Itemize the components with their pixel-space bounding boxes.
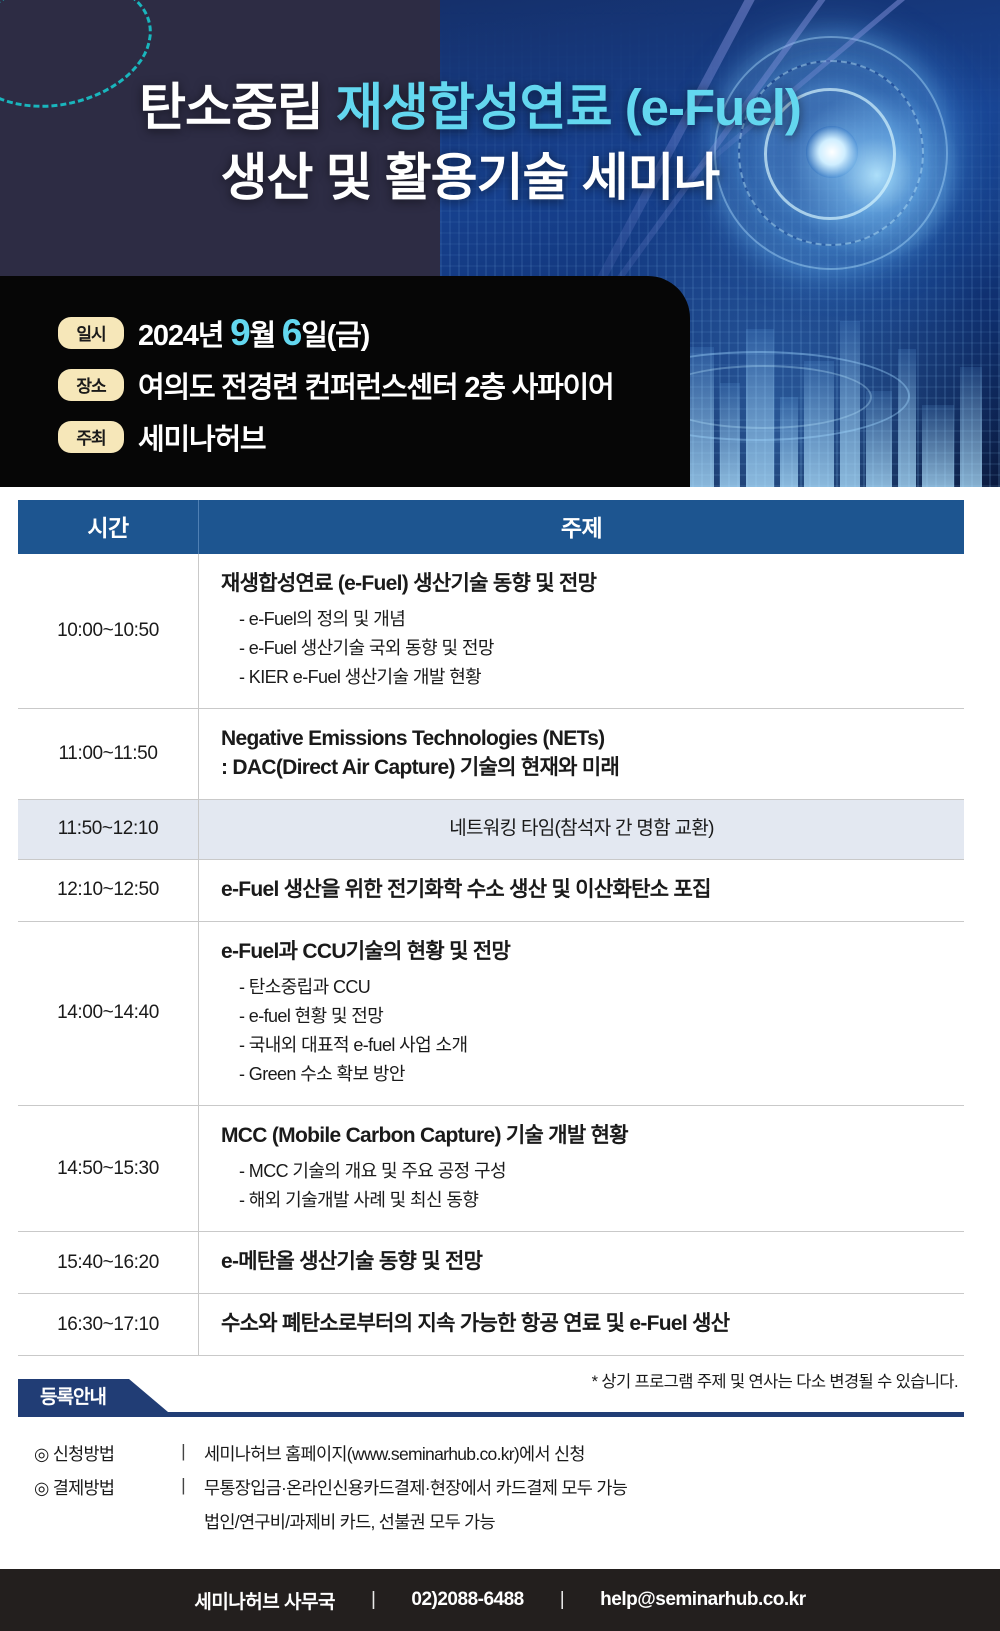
title-line1-part2: 재생합성연료 (e-Fuel) bbox=[336, 79, 801, 136]
session-title: 수소와 폐탄소로부터의 지속 가능한 항공 연료 및 e-Fuel 생산 bbox=[221, 1310, 964, 1339]
column-header-time: 시간 bbox=[18, 500, 199, 554]
session-time: 10:00~10:50 bbox=[18, 554, 199, 709]
session-bullet-item: - Green 수소 확보 방안 bbox=[239, 1060, 964, 1089]
venue-value: 여의도 전경련 컨퍼런스센터 2층 사파이어 bbox=[138, 364, 614, 406]
registration-key: ◎ 신청방법 bbox=[34, 1441, 162, 1466]
registration-divider bbox=[18, 1412, 964, 1417]
date-badge: 일시 bbox=[58, 317, 124, 349]
session-topic-cell: e-Fuel과 CCU기술의 현황 및 전망- 탄소중립과 CCU- e-fue… bbox=[199, 921, 965, 1106]
registration-line: ◎ 결제방법|무통장입금·온라인신용카드결제·현장에서 카드결제 모두 가능 bbox=[34, 1475, 964, 1500]
program-table: 시간 주제 10:00~10:50재생합성연료 (e-Fuel) 생산기술 동향… bbox=[18, 500, 964, 1356]
column-header-topic: 주제 bbox=[199, 500, 965, 554]
session-bullet-item: - 국내외 대표적 e-fuel 사업 소개 bbox=[239, 1031, 964, 1060]
session-bullets: - MCC 기술의 개요 및 주요 공정 구성- 해외 기술개발 사례 및 최신… bbox=[221, 1157, 964, 1215]
date-month-unit: 월 bbox=[249, 320, 274, 352]
table-row: 10:00~10:50재생합성연료 (e-Fuel) 생산기술 동향 및 전망-… bbox=[18, 554, 964, 709]
footer-phone[interactable]: 02)2088-6488 bbox=[411, 1589, 523, 1611]
table-row: 11:00~11:50Negative Emissions Technologi… bbox=[18, 709, 964, 800]
session-title: Negative Emissions Technologies (NETs): … bbox=[221, 725, 964, 783]
page-footer: 세미나허브 사무국 | 02)2088-6488 | help@seminarh… bbox=[0, 1569, 1000, 1631]
registration-separator: | bbox=[162, 1441, 204, 1462]
registration-tab-label: 등록안내 bbox=[18, 1379, 168, 1412]
date-year: 2024년 bbox=[138, 320, 223, 352]
info-row-host: 주최 세미나허브 bbox=[58, 416, 614, 458]
session-time: 12:10~12:50 bbox=[18, 859, 199, 921]
registration-value: 세미나허브 홈페이지(www.seminarhub.co.kr)에서 신청 bbox=[204, 1441, 964, 1466]
program-header-row: 시간 주제 bbox=[18, 500, 964, 554]
footer-office: 세미나허브 사무국 bbox=[194, 1587, 335, 1614]
table-row: 14:00~14:40e-Fuel과 CCU기술의 현황 및 전망- 탄소중립과… bbox=[18, 921, 964, 1106]
title-line2: 생산 및 활용기술 세미나 bbox=[0, 148, 940, 208]
session-topic-cell: 수소와 폐탄소로부터의 지속 가능한 항공 연료 및 e-Fuel 생산 bbox=[199, 1294, 965, 1356]
session-time: 11:00~11:50 bbox=[18, 709, 199, 800]
session-topic-cell: e-Fuel 생산을 위한 전기화학 수소 생산 및 이산화탄소 포집 bbox=[199, 859, 965, 921]
host-badge: 주최 bbox=[58, 421, 124, 453]
session-bullet-item: - KIER e-Fuel 생산기술 개발 현황 bbox=[239, 663, 964, 692]
session-bullet-item: - e-fuel 현황 및 전망 bbox=[239, 1002, 964, 1031]
session-bullet-item: - e-Fuel 생산기술 국외 동향 및 전망 bbox=[239, 634, 964, 663]
venue-badge: 장소 bbox=[58, 369, 124, 401]
registration-continuation: 법인/연구비/과제비 카드, 선불권 모두 가능 bbox=[204, 1509, 964, 1534]
date-month-number: 9 bbox=[230, 312, 249, 353]
registration-value: 무통장입금·온라인신용카드결제·현장에서 카드결제 모두 가능 bbox=[204, 1475, 964, 1500]
host-value: 세미나허브 bbox=[138, 416, 265, 458]
registration-separator: | bbox=[162, 1475, 204, 1496]
registration-tab-wrap: 등록안내 bbox=[18, 1379, 964, 1417]
date-value: 2024년 9월 6일(금) bbox=[138, 312, 369, 354]
session-title: e-메탄올 생산기술 동향 및 전망 bbox=[221, 1248, 964, 1277]
session-bullet-item: - e-Fuel의 정의 및 개념 bbox=[239, 605, 964, 634]
registration-section: 등록안내 ◎ 신청방법|세미나허브 홈페이지(www.seminarhub.co… bbox=[18, 1379, 964, 1534]
session-topic-cell: Negative Emissions Technologies (NETs): … bbox=[199, 709, 965, 800]
session-topic-cell: 네트워킹 타임(참석자 간 명함 교환) bbox=[199, 800, 965, 859]
poster-title: 탄소중립 재생합성연료 (e-Fuel) 생산 및 활용기술 세미나 bbox=[0, 78, 940, 208]
footer-separator-1: | bbox=[371, 1589, 375, 1611]
session-bullet-item: - 탄소중립과 CCU bbox=[239, 973, 964, 1002]
session-topic-cell: MCC (Mobile Carbon Capture) 기술 개발 현황- MC… bbox=[199, 1106, 965, 1232]
registration-line: ◎ 신청방법|세미나허브 홈페이지(www.seminarhub.co.kr)에… bbox=[34, 1441, 964, 1466]
table-row: 16:30~17:10수소와 폐탄소로부터의 지속 가능한 항공 연료 및 e-… bbox=[18, 1294, 964, 1356]
session-bullets: - e-Fuel의 정의 및 개념- e-Fuel 생산기술 국외 동향 및 전… bbox=[221, 605, 964, 692]
info-row-date: 일시 2024년 9월 6일(금) bbox=[58, 312, 614, 354]
table-row: 12:10~12:50e-Fuel 생산을 위한 전기화학 수소 생산 및 이산… bbox=[18, 859, 964, 921]
program-table-body: 10:00~10:50재생합성연료 (e-Fuel) 생산기술 동향 및 전망-… bbox=[18, 554, 964, 1356]
session-time: 16:30~17:10 bbox=[18, 1294, 199, 1356]
hero-banner: 탄소중립 재생합성연료 (e-Fuel) 생산 및 활용기술 세미나 일시 20… bbox=[0, 0, 1000, 487]
table-row: 11:50~12:10네트워킹 타임(참석자 간 명함 교환) bbox=[18, 800, 964, 859]
session-topic-cell: e-메탄올 생산기술 동향 및 전망 bbox=[199, 1232, 965, 1294]
table-row: 15:40~16:20e-메탄올 생산기술 동향 및 전망 bbox=[18, 1232, 964, 1294]
footer-email[interactable]: help@seminarhub.co.kr bbox=[600, 1589, 805, 1611]
registration-details: ◎ 신청방법|세미나허브 홈페이지(www.seminarhub.co.kr)에… bbox=[18, 1441, 964, 1534]
date-day-number: 6 bbox=[282, 312, 301, 353]
footer-separator-2: | bbox=[560, 1589, 564, 1611]
title-line1-part1: 탄소중립 bbox=[139, 79, 323, 136]
registration-key: ◎ 결제방법 bbox=[34, 1475, 162, 1500]
event-info-panel: 일시 2024년 9월 6일(금) 장소 여의도 전경련 컨퍼런스센터 2층 사… bbox=[0, 276, 690, 487]
program-table-head: 시간 주제 bbox=[18, 500, 964, 554]
session-time: 11:50~12:10 bbox=[18, 800, 199, 859]
session-title: e-Fuel과 CCU기술의 현황 및 전망 bbox=[221, 938, 964, 967]
session-time: 14:00~14:40 bbox=[18, 921, 199, 1106]
info-row-venue: 장소 여의도 전경련 컨퍼런스센터 2층 사파이어 bbox=[58, 364, 614, 406]
program-section: 시간 주제 10:00~10:50재생합성연료 (e-Fuel) 생산기술 동향… bbox=[18, 500, 964, 1392]
session-time: 14:50~15:30 bbox=[18, 1106, 199, 1232]
session-bullet-item: - MCC 기술의 개요 및 주요 공정 구성 bbox=[239, 1157, 964, 1186]
session-title: 재생합성연료 (e-Fuel) 생산기술 동향 및 전망 bbox=[221, 570, 964, 599]
session-bullets: - 탄소중립과 CCU- e-fuel 현황 및 전망- 국내외 대표적 e-f… bbox=[221, 973, 964, 1090]
session-title: 네트워킹 타임(참석자 간 명함 교환) bbox=[199, 816, 964, 842]
table-row: 14:50~15:30MCC (Mobile Carbon Capture) 기… bbox=[18, 1106, 964, 1232]
session-title: e-Fuel 생산을 위한 전기화학 수소 생산 및 이산화탄소 포집 bbox=[221, 876, 964, 905]
session-topic-cell: 재생합성연료 (e-Fuel) 생산기술 동향 및 전망- e-Fuel의 정의… bbox=[199, 554, 965, 709]
session-title: MCC (Mobile Carbon Capture) 기술 개발 현황 bbox=[221, 1122, 964, 1151]
session-time: 15:40~16:20 bbox=[18, 1232, 199, 1294]
date-day-unit: 일(금) bbox=[301, 320, 369, 352]
session-bullet-item: - 해외 기술개발 사례 및 최신 동향 bbox=[239, 1186, 964, 1215]
